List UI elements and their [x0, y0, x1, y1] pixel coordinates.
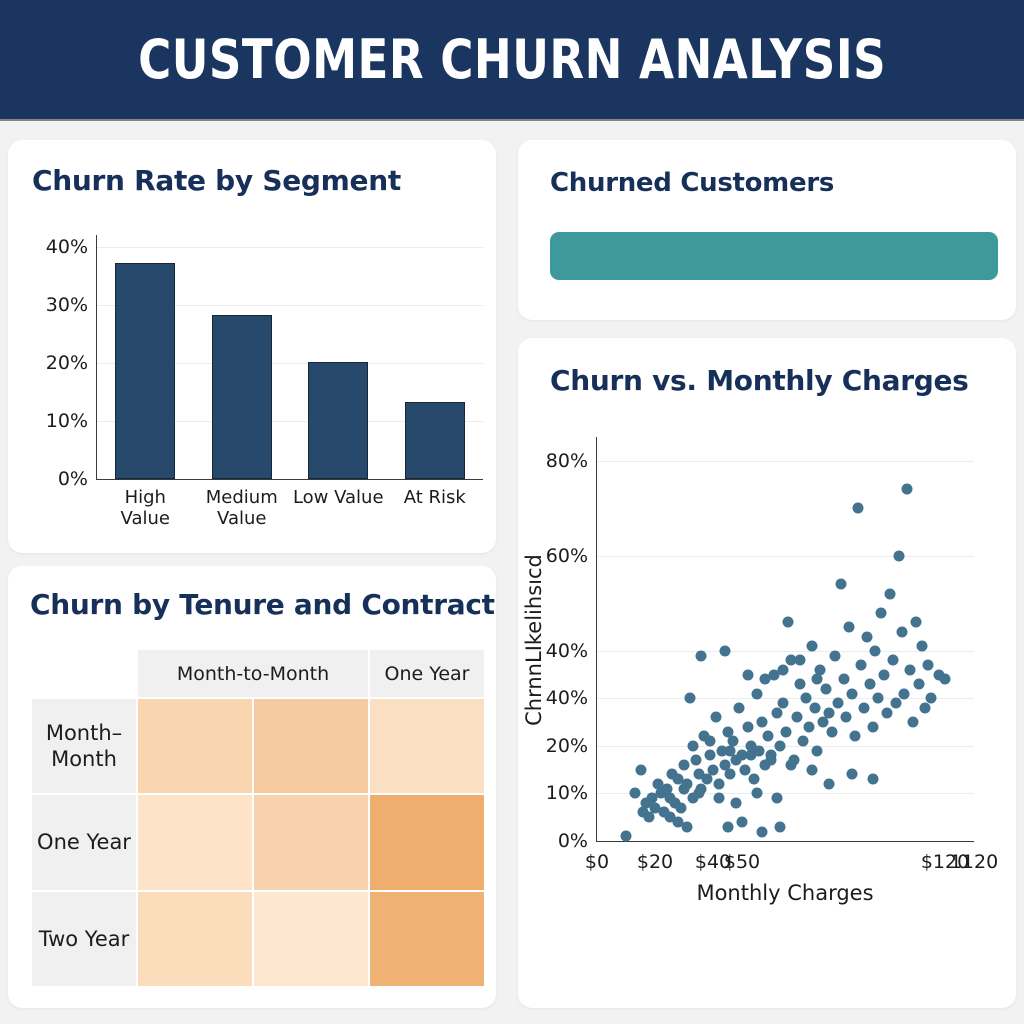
scatter-x-tick: 1120 — [950, 851, 998, 873]
scatter-gridline — [597, 746, 974, 747]
scatter-point — [708, 764, 719, 775]
bar-chart-x-label: At Risk — [387, 487, 484, 508]
scatter-point — [884, 588, 895, 599]
scatter-point — [821, 683, 832, 694]
heatmap-cell[interactable] — [254, 892, 368, 986]
scatter-point — [757, 717, 768, 728]
bar-chart-plot-area: 0%10%20%30%40%High ValueMedium ValueLow … — [96, 235, 483, 480]
scatter-point — [890, 698, 901, 709]
page-header: CUSTOMER CHURN ANALYSIS — [0, 0, 1024, 119]
bar-chart-bar[interactable] — [405, 402, 465, 479]
dashboard-root: CUSTOMER CHURN ANALYSIS Churn Rate by Se… — [0, 0, 1024, 1024]
heatmap-cell[interactable] — [370, 699, 484, 793]
heatmap-title: Churn by Tenure and Contract — [30, 588, 495, 621]
scatter-point — [629, 788, 640, 799]
scatter-point — [690, 755, 701, 766]
scatter-point — [826, 726, 837, 737]
heatmap: Month-to-MonthOne Year Month–MonthOne Ye… — [30, 648, 486, 988]
scatter-point — [795, 655, 806, 666]
scatter-point — [705, 750, 716, 761]
header-divider — [0, 119, 1024, 121]
scatter-point — [687, 740, 698, 751]
scatter-point — [824, 707, 835, 718]
scatter-point — [751, 788, 762, 799]
scatter-point — [806, 641, 817, 652]
scatter-point — [719, 645, 730, 656]
scatter-point — [812, 674, 823, 685]
bar-chart-y-tick: 20% — [46, 352, 88, 374]
bar-chart-x-label: High Value — [97, 487, 194, 529]
scatter-point — [737, 817, 748, 828]
scatter-point — [896, 626, 907, 637]
scatter-point — [867, 774, 878, 785]
scatter-gridline — [597, 461, 974, 462]
kpi-title: Churned Customers — [550, 168, 834, 198]
heatmap-cell[interactable] — [138, 699, 252, 793]
scatter-plot-area: 0%10%20%40%40%60%80%$0$20$40$50$1201120 — [596, 437, 974, 842]
scatter-point — [745, 750, 756, 761]
scatter-point — [870, 645, 881, 656]
scatter-x-tick: $20 — [637, 851, 673, 873]
heatmap-body: Month–MonthOne YearTwo Year — [32, 699, 484, 986]
scatter-point — [771, 793, 782, 804]
scatter-point — [838, 674, 849, 685]
scatter-point — [893, 550, 904, 561]
bar-chart-y-tick: 0% — [58, 468, 88, 490]
heatmap-row-header: Month–Month — [32, 699, 136, 793]
scatter-point — [887, 655, 898, 666]
scatter-point — [679, 783, 690, 794]
scatter-point — [908, 717, 919, 728]
scatter-point — [760, 674, 771, 685]
bar-chart-y-tick: 30% — [46, 294, 88, 316]
heatmap-cell[interactable] — [370, 795, 484, 889]
scatter-point — [925, 693, 936, 704]
scatter-point — [681, 821, 692, 832]
scatter-y-tick: 80% — [546, 450, 588, 472]
scatter-point — [780, 726, 791, 737]
scatter-point — [777, 698, 788, 709]
scatter-point — [841, 712, 852, 723]
scatter-y-axis-title: ChrnnLIkelihsıcd — [522, 554, 546, 726]
scatter-x-axis-title: Monthly Charges — [596, 881, 974, 905]
scatter-point — [742, 669, 753, 680]
scatter-point — [919, 702, 930, 713]
scatter-chart: 0%10%20%40%40%60%80%$0$20$40$50$1201120 … — [518, 338, 1016, 1008]
scatter-point — [742, 721, 753, 732]
card-churn-rate-by-segment: Churn Rate by Segment 0%10%20%30%40%High… — [8, 140, 496, 553]
scatter-point — [725, 769, 736, 780]
bar-chart-bar[interactable] — [308, 362, 368, 479]
scatter-point — [771, 707, 782, 718]
bar-chart: 0%10%20%30%40%High ValueMedium ValueLow … — [8, 140, 496, 553]
scatter-point — [876, 607, 887, 618]
scatter-point — [864, 679, 875, 690]
scatter-y-tick: 40% — [546, 640, 588, 662]
scatter-point — [809, 702, 820, 713]
scatter-point — [705, 736, 716, 747]
scatter-point — [916, 641, 927, 652]
scatter-y-tick: 20% — [546, 735, 588, 757]
card-churned-customers: Churned Customers — [518, 140, 1016, 320]
bar-chart-bar[interactable] — [212, 315, 272, 479]
scatter-point — [867, 721, 878, 732]
heatmap-row: Two Year — [32, 892, 484, 986]
bar-chart-bar[interactable] — [115, 263, 175, 479]
page-title: CUSTOMER CHURN ANALYSIS — [138, 28, 886, 91]
scatter-point — [873, 693, 884, 704]
heatmap-table: Month-to-MonthOne Year Month–MonthOne Ye… — [30, 648, 486, 988]
scatter-point — [621, 831, 632, 842]
scatter-point — [847, 688, 858, 699]
scatter-point — [844, 622, 855, 633]
scatter-point — [792, 712, 803, 723]
heatmap-column-header: One Year — [370, 650, 484, 697]
scatter-point — [940, 674, 951, 685]
scatter-point — [713, 778, 724, 789]
heatmap-row-header: Two Year — [32, 892, 136, 986]
heatmap-row-header: One Year — [32, 795, 136, 889]
scatter-point — [783, 617, 794, 628]
scatter-point — [913, 679, 924, 690]
scatter-point — [853, 503, 864, 514]
scatter-point — [710, 712, 721, 723]
scatter-x-tick: $0 — [585, 851, 609, 873]
heatmap-corner-cell — [32, 650, 136, 697]
heatmap-cell[interactable] — [254, 795, 368, 889]
scatter-point — [676, 802, 687, 813]
scatter-point — [835, 579, 846, 590]
heatmap-cell[interactable] — [138, 892, 252, 986]
bar-chart-y-tick: 10% — [46, 410, 88, 432]
scatter-point — [722, 821, 733, 832]
scatter-y-tick: 60% — [546, 545, 588, 567]
scatter-point — [797, 736, 808, 747]
scatter-point — [850, 731, 861, 742]
scatter-point — [847, 769, 858, 780]
bar-chart-y-tick: 40% — [46, 236, 88, 258]
bar-chart-x-label: Low Value — [290, 487, 387, 508]
scatter-point — [766, 755, 777, 766]
scatter-y-tick: 10% — [546, 782, 588, 804]
scatter-point — [774, 740, 785, 751]
heatmap-cell[interactable] — [254, 699, 368, 793]
scatter-point — [693, 788, 704, 799]
scatter-point — [882, 707, 893, 718]
scatter-point — [777, 664, 788, 675]
scatter-point — [911, 617, 922, 628]
scatter-point — [679, 759, 690, 770]
scatter-x-tick: $50 — [724, 851, 760, 873]
heatmap-header-row: Month-to-MonthOne Year — [32, 650, 484, 697]
heatmap-column-header: Month-to-Month — [138, 650, 368, 697]
heatmap-header: Month-to-MonthOne Year — [32, 650, 484, 697]
scatter-point — [832, 698, 843, 709]
scatter-point — [861, 631, 872, 642]
scatter-point — [855, 660, 866, 671]
heatmap-cell[interactable] — [138, 795, 252, 889]
scatter-point — [803, 721, 814, 732]
scatter-point — [757, 826, 768, 837]
scatter-point — [734, 702, 745, 713]
heatmap-row: One Year — [32, 795, 484, 889]
scatter-point — [922, 660, 933, 671]
scatter-point — [806, 764, 817, 775]
scatter-point — [902, 484, 913, 495]
scatter-point — [812, 745, 823, 756]
scatter-point — [763, 731, 774, 742]
scatter-point — [829, 650, 840, 661]
scatter-point — [818, 717, 829, 728]
scatter-gridline — [597, 651, 974, 652]
scatter-point — [858, 702, 869, 713]
scatter-point — [713, 793, 724, 804]
card-churn-vs-monthly-charges: Churn vs. Monthly Charges 0%10%20%40%40%… — [518, 338, 1016, 1008]
scatter-point — [739, 764, 750, 775]
scatter-point — [635, 764, 646, 775]
scatter-point — [786, 759, 797, 770]
scatter-point — [731, 797, 742, 808]
scatter-point — [684, 693, 695, 704]
scatter-point — [879, 669, 890, 680]
scatter-y-tick: 0% — [558, 830, 588, 852]
scatter-point — [774, 821, 785, 832]
bar-chart-gridline — [97, 247, 483, 248]
scatter-point — [795, 679, 806, 690]
heatmap-row: Month–Month — [32, 699, 484, 793]
scatter-point — [824, 778, 835, 789]
heatmap-cell[interactable] — [370, 892, 484, 986]
scatter-gridline — [597, 556, 974, 557]
bar-chart-x-label: Medium Value — [194, 487, 291, 529]
scatter-point — [899, 688, 910, 699]
scatter-point — [696, 650, 707, 661]
scatter-point — [748, 774, 759, 785]
scatter-point — [725, 745, 736, 756]
card-churn-by-tenure-and-contract: Churn by Tenure and Contract Month-to-Mo… — [8, 566, 496, 1008]
scatter-point — [702, 774, 713, 785]
scatter-point — [644, 812, 655, 823]
scatter-point — [905, 664, 916, 675]
scatter-point — [800, 693, 811, 704]
churned-customers-bar — [550, 232, 998, 280]
scatter-point — [751, 688, 762, 699]
scatter-y-tick: 40% — [546, 687, 588, 709]
